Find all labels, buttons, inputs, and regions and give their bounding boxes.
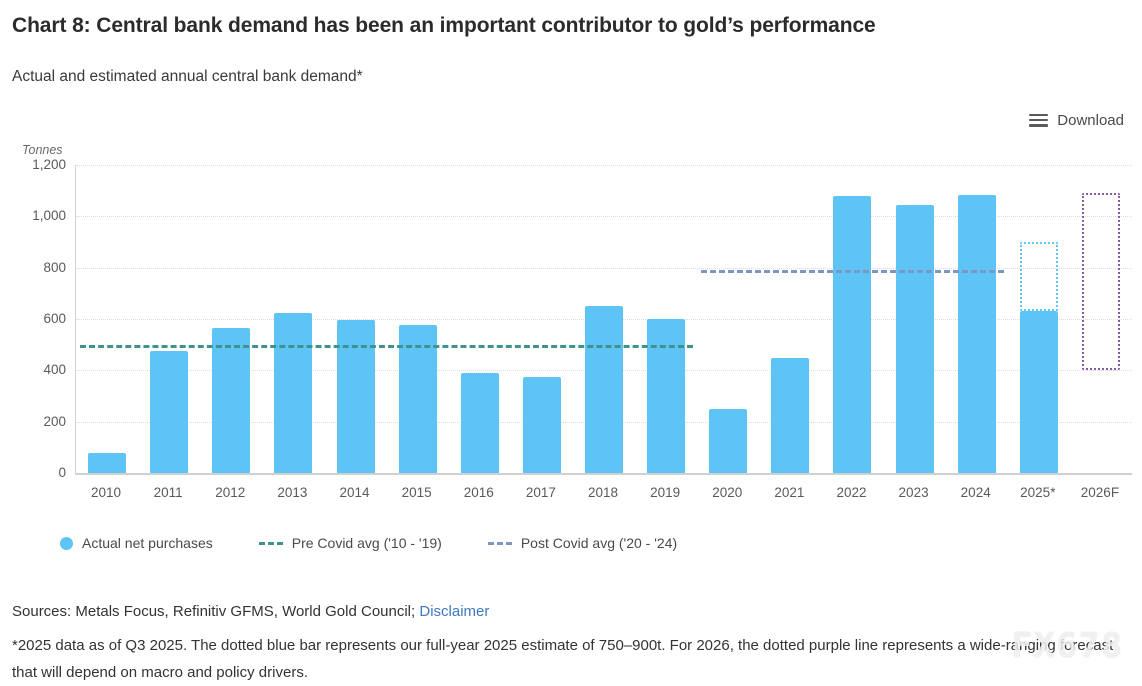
download-button[interactable]: Download bbox=[1029, 112, 1124, 129]
bar-2022[interactable] bbox=[833, 196, 871, 473]
x-axis-label-2019: 2019 bbox=[634, 485, 696, 500]
reference-line-post-covid bbox=[701, 270, 1004, 273]
x-axis-label-2025: 2025* bbox=[1007, 485, 1069, 500]
footnote-text: *2025 data as of Q3 2025. The dotted blu… bbox=[12, 632, 1132, 686]
legend-item-0[interactable]: Actual net purchases bbox=[60, 535, 213, 551]
plot-area bbox=[75, 165, 1132, 475]
x-axis-label-2016: 2016 bbox=[448, 485, 510, 500]
legend-dashed-line-icon bbox=[488, 542, 512, 545]
x-axis-label-2011: 2011 bbox=[137, 485, 199, 500]
forecast-range-box-2026[interactable] bbox=[1082, 193, 1120, 370]
sources-text: Sources: Metals Focus, Refinitiv GFMS, W… bbox=[12, 603, 415, 620]
legend-item-label: Post Covid avg ('20 - '24) bbox=[521, 535, 677, 551]
y-axis-tick-label: 0 bbox=[10, 465, 66, 480]
bar-2016[interactable] bbox=[461, 373, 499, 473]
page-title: Chart 8: Central bank demand has been an… bbox=[12, 12, 1122, 40]
legend-item-2[interactable]: Post Covid avg ('20 - '24) bbox=[488, 535, 677, 551]
legend-dashed-line-icon bbox=[259, 542, 283, 545]
sources-line: Sources: Metals Focus, Refinitiv GFMS, W… bbox=[12, 603, 489, 620]
bar-2013[interactable] bbox=[274, 313, 312, 473]
x-axis-label-2024: 2024 bbox=[945, 485, 1007, 500]
bar-2011[interactable] bbox=[150, 351, 188, 473]
hamburger-menu-icon bbox=[1029, 114, 1048, 128]
gridline bbox=[76, 165, 1132, 166]
bar-2023[interactable] bbox=[896, 205, 934, 473]
y-axis-tick-label: 800 bbox=[10, 260, 66, 275]
bar-2020[interactable] bbox=[709, 409, 747, 473]
x-axis-label-2010: 2010 bbox=[75, 485, 137, 500]
bar-2024[interactable] bbox=[958, 195, 996, 473]
bar-2012[interactable] bbox=[212, 328, 250, 473]
reference-line-pre-covid bbox=[80, 345, 693, 348]
download-label: Download bbox=[1057, 112, 1124, 129]
x-axis-label-2020: 2020 bbox=[696, 485, 758, 500]
y-axis-tick-label: 1,200 bbox=[10, 157, 66, 172]
x-axis-label-2014: 2014 bbox=[323, 485, 385, 500]
legend-circle-icon bbox=[60, 537, 73, 550]
x-axis-label-2023: 2023 bbox=[883, 485, 945, 500]
x-axis-label-2012: 2012 bbox=[199, 485, 261, 500]
y-axis-tick-label: 1,000 bbox=[10, 208, 66, 223]
y-axis-tick-label: 600 bbox=[10, 311, 66, 326]
bar-2018[interactable] bbox=[585, 306, 623, 473]
legend-item-label: Pre Covid avg ('10 - '19) bbox=[292, 535, 442, 551]
forecast-range-box-2025[interactable] bbox=[1020, 242, 1058, 311]
bar-2017[interactable] bbox=[523, 377, 561, 473]
x-axis-label-2018: 2018 bbox=[572, 485, 634, 500]
y-axis-tick-label: 200 bbox=[10, 414, 66, 429]
chart-page: Chart 8: Central bank demand has been an… bbox=[0, 0, 1142, 684]
x-axis-ticks: 2010201120122013201420152016201720182019… bbox=[75, 485, 1131, 509]
bar-2014[interactable] bbox=[337, 320, 375, 473]
legend-item-1[interactable]: Pre Covid avg ('10 - '19) bbox=[259, 535, 442, 551]
y-axis-title: Tonnes bbox=[22, 143, 63, 157]
legend-item-label: Actual net purchases bbox=[82, 535, 213, 551]
x-axis-label-2022: 2022 bbox=[820, 485, 882, 500]
x-axis-label-2015: 2015 bbox=[386, 485, 448, 500]
bar-2025[interactable] bbox=[1020, 311, 1058, 473]
bar-2010[interactable] bbox=[88, 453, 126, 473]
x-axis-label-2026: 2026F bbox=[1069, 485, 1131, 500]
x-axis-label-2021: 2021 bbox=[758, 485, 820, 500]
chart-canvas: Tonnes 02004006008001,0001,200 201020112… bbox=[0, 140, 1142, 560]
x-axis-label-2013: 2013 bbox=[261, 485, 323, 500]
bar-2021[interactable] bbox=[771, 358, 809, 474]
chart-legend: Actual net purchasesPre Covid avg ('10 -… bbox=[0, 530, 1142, 556]
chart-subtitle: Actual and estimated annual central bank… bbox=[12, 66, 912, 88]
bar-2019[interactable] bbox=[647, 319, 685, 473]
x-axis-label-2017: 2017 bbox=[510, 485, 572, 500]
y-axis-tick-label: 400 bbox=[10, 362, 66, 377]
disclaimer-link[interactable]: Disclaimer bbox=[419, 603, 489, 620]
